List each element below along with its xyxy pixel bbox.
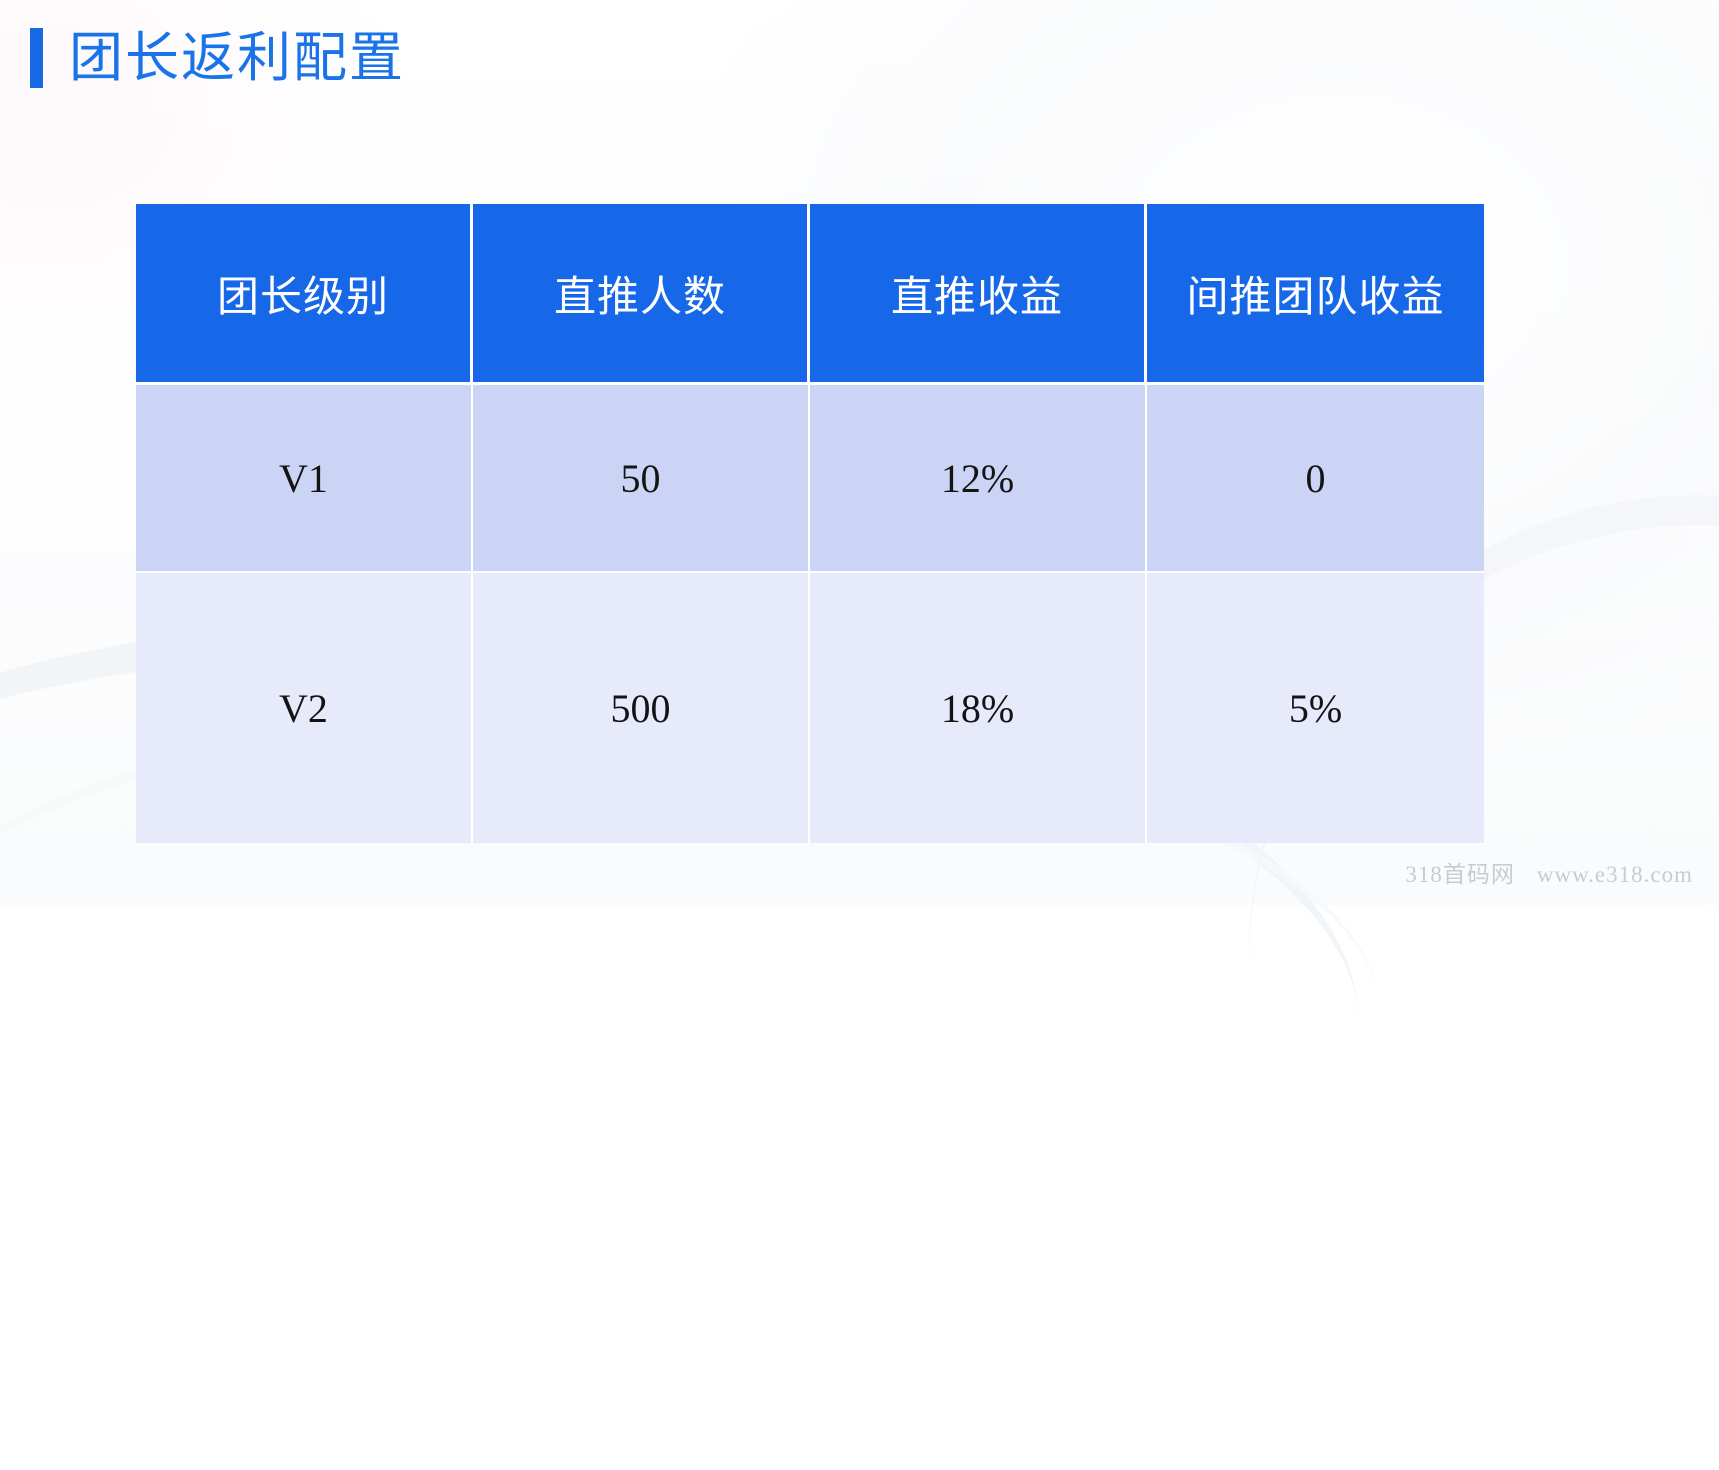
watermark-url: www.e318.com bbox=[1537, 862, 1693, 888]
table-row: V2 500 18% 5% bbox=[136, 573, 1484, 843]
cell-team-income: 0 bbox=[1147, 385, 1484, 573]
table-header: 团长级别 直推人数 直推收益 间推团队收益 bbox=[136, 204, 1484, 385]
cell-level: V2 bbox=[136, 573, 473, 843]
cell-team-income: 5% bbox=[1147, 573, 1484, 843]
cell-level: V1 bbox=[136, 385, 473, 573]
table-row: V1 50 12% 0 bbox=[136, 385, 1484, 573]
cell-direct-income: 12% bbox=[810, 385, 1147, 573]
cell-direct-count: 50 bbox=[473, 385, 810, 573]
table-body: V1 50 12% 0 V2 500 18% 5% bbox=[136, 385, 1484, 843]
column-header-direct-income: 直推收益 bbox=[810, 204, 1147, 385]
rebate-config-table: 团长级别 直推人数 直推收益 间推团队收益 V1 50 12% 0 V2 500… bbox=[136, 204, 1484, 843]
cell-direct-income: 18% bbox=[810, 573, 1147, 843]
watermark-site-name: 318首码网 bbox=[1405, 855, 1515, 889]
title-accent-bar bbox=[30, 28, 43, 88]
table-header-row: 团长级别 直推人数 直推收益 间推团队收益 bbox=[136, 204, 1484, 385]
column-header-direct-count: 直推人数 bbox=[473, 204, 810, 385]
column-header-level: 团长级别 bbox=[136, 204, 473, 385]
column-header-team-income: 间推团队收益 bbox=[1147, 204, 1484, 385]
slide-title-row: 团长返利配置 bbox=[30, 28, 405, 88]
page-title: 团长返利配置 bbox=[69, 31, 405, 85]
watermark: 318首码网 www.e318.com bbox=[1405, 855, 1693, 889]
cell-direct-count: 500 bbox=[473, 573, 810, 843]
